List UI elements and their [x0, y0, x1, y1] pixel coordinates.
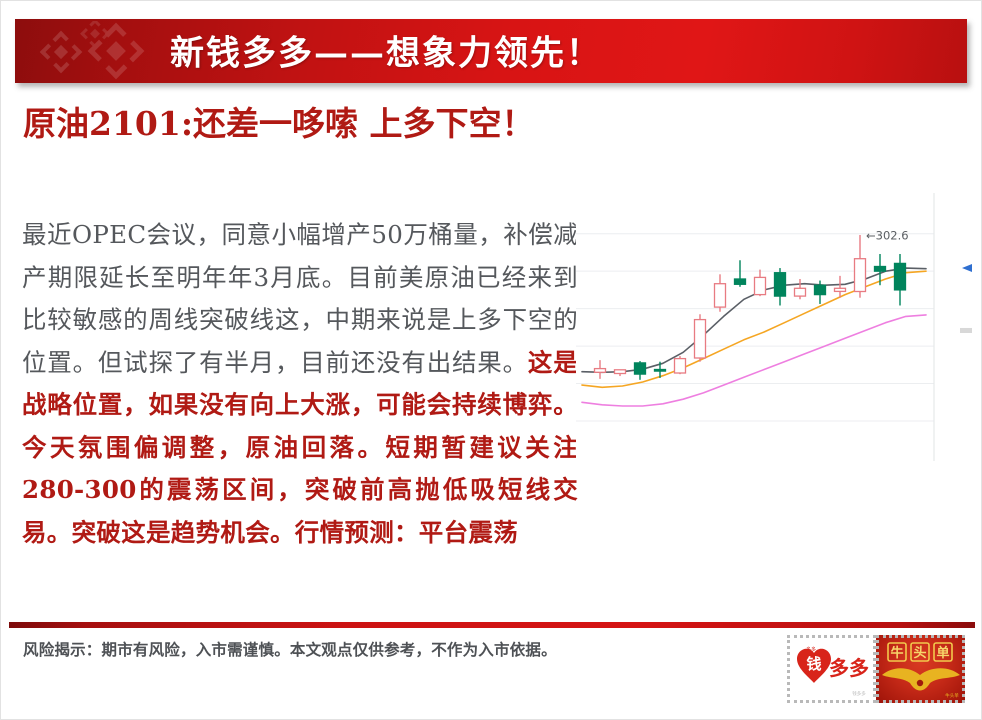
candlestick-chart-svg: ←302.6 [576, 193, 974, 461]
footer-divider [9, 622, 975, 628]
article-body: 最近OPEC会议，同意小幅增产50万桶量，补偿减产期限延长至明年年3月底。目前美… [22, 214, 578, 554]
svg-text:牛头单: 牛头单 [945, 692, 959, 699]
svg-text:多多: 多多 [829, 656, 869, 680]
candlestick-chart[interactable]: ←302.6 [576, 193, 974, 461]
brand-stamps: 钱 多多 多多 钱多多 牛 头 单 牛头单 [787, 635, 965, 703]
svg-text:牛: 牛 [890, 645, 903, 661]
article-body-plain: 最近OPEC会议，同意小幅增产50万桶量，补偿减产期限延长至明年年3月底。目前美… [22, 220, 578, 377]
banner-title: 新钱多多——想象力领先！ [170, 26, 602, 75]
chinese-knot-pattern-icon [33, 21, 163, 83]
qianduoduo-stamp: 钱 多多 多多 钱多多 [787, 635, 876, 703]
svg-text:单: 单 [936, 645, 949, 661]
chart-candles [595, 235, 906, 380]
slide-page: 新钱多多——想象力领先！ 原油2101:还差一哆嗦 上多下空！ 最近OPEC会议… [0, 0, 982, 720]
svg-text:钱多多: 钱多多 [852, 690, 866, 697]
chart-edge-markers [960, 264, 972, 333]
svg-text:多多: 多多 [806, 646, 816, 653]
svg-text:头: 头 [913, 645, 926, 661]
svg-text:钱: 钱 [806, 655, 821, 673]
header-banner: 新钱多多——想象力领先！ [15, 19, 967, 83]
article-body-highlight: 这是战略位置，如果没有向上大涨，可能会持续博弈。今天氛围偏调整，原油回落。短期暂… [22, 348, 578, 547]
page-title: 原油2101:还差一哆嗦 上多下空！ [23, 99, 583, 149]
svg-text:←302.6: ←302.6 [866, 228, 909, 242]
chart-annotations: ←302.6 [866, 228, 909, 242]
risk-disclaimer: 风险揭示：期市有风险，入市需谨慎。本文观点仅供参考，不作为入市依据。 [23, 638, 557, 660]
niutoudan-stamp: 牛 头 单 牛头单 [876, 635, 965, 703]
